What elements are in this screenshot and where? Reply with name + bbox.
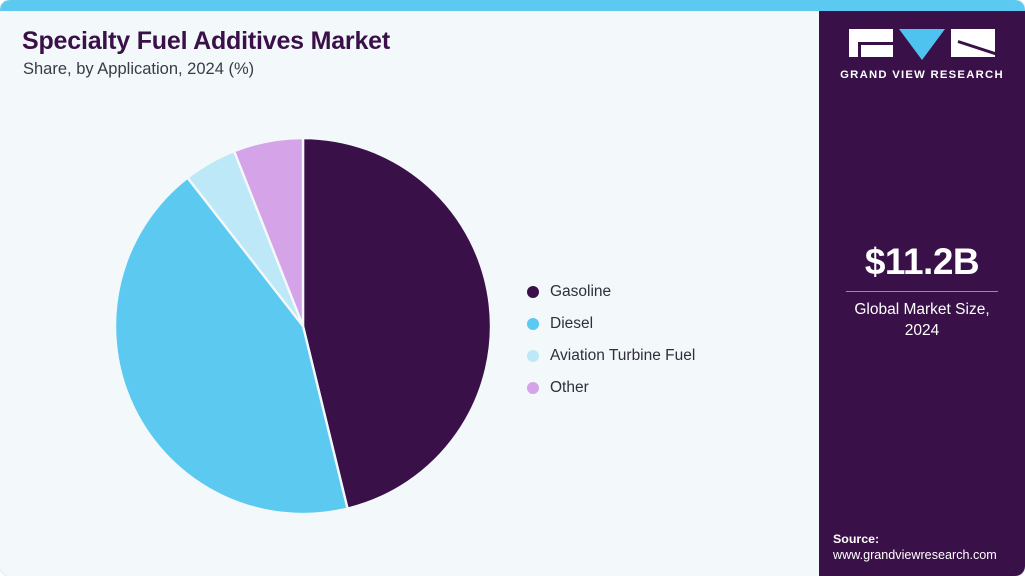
legend-label-diesel: Diesel [550, 315, 593, 333]
legend-label-other: Other [550, 379, 589, 397]
market-size-callout: $11.2B Global Market Size, 2024 [819, 243, 1025, 342]
page-subtitle: Share, by Application, 2024 (%) [23, 60, 254, 79]
source-block: Source: www.grandviewresearch.com [833, 532, 1017, 562]
legend-label-gasoline: Gasoline [550, 283, 611, 301]
legend-swatch-aviation-turbine-fuel [527, 350, 539, 362]
top-accent-bar [0, 0, 1025, 11]
pie-slice-group [115, 138, 491, 514]
callout-divider [846, 291, 998, 292]
brand-name: GRAND VIEW RESEARCH [819, 69, 1025, 81]
legend-swatch-other [527, 382, 539, 394]
chart-legend: Gasoline Diesel Aviation Turbine Fuel Ot… [527, 276, 787, 404]
chart-panel: Specialty Fuel Additives Market Share, b… [0, 11, 819, 576]
brand-sidebar: GRAND VIEW RESEARCH $11.2B Global Market… [819, 11, 1025, 576]
legend-item-diesel[interactable]: Diesel [527, 308, 787, 340]
source-url[interactable]: www.grandviewresearch.com [833, 548, 1017, 562]
logo-v-triangle-icon [899, 29, 945, 60]
legend-swatch-diesel [527, 318, 539, 330]
legend-item-gasoline[interactable]: Gasoline [527, 276, 787, 308]
legend-item-aviation-turbine-fuel[interactable]: Aviation Turbine Fuel [527, 340, 787, 372]
logo-letterforms [819, 29, 1025, 60]
legend-item-other[interactable]: Other [527, 372, 787, 404]
market-size-value: $11.2B [819, 243, 1025, 282]
pie-chart-svg [108, 131, 498, 521]
brand-logo: GRAND VIEW RESEARCH [819, 29, 1025, 81]
pie-chart [108, 131, 498, 521]
legend-label-aviation-turbine-fuel: Aviation Turbine Fuel [550, 347, 695, 365]
page-title: Specialty Fuel Additives Market [22, 27, 390, 56]
logo-r-icon [951, 29, 995, 57]
legend-swatch-gasoline [527, 286, 539, 298]
logo-g-icon [849, 29, 893, 57]
market-share-infographic-card: Specialty Fuel Additives Market Share, b… [0, 0, 1025, 576]
market-size-caption: Global Market Size, 2024 [819, 300, 1025, 342]
source-label: Source: [833, 532, 1017, 546]
